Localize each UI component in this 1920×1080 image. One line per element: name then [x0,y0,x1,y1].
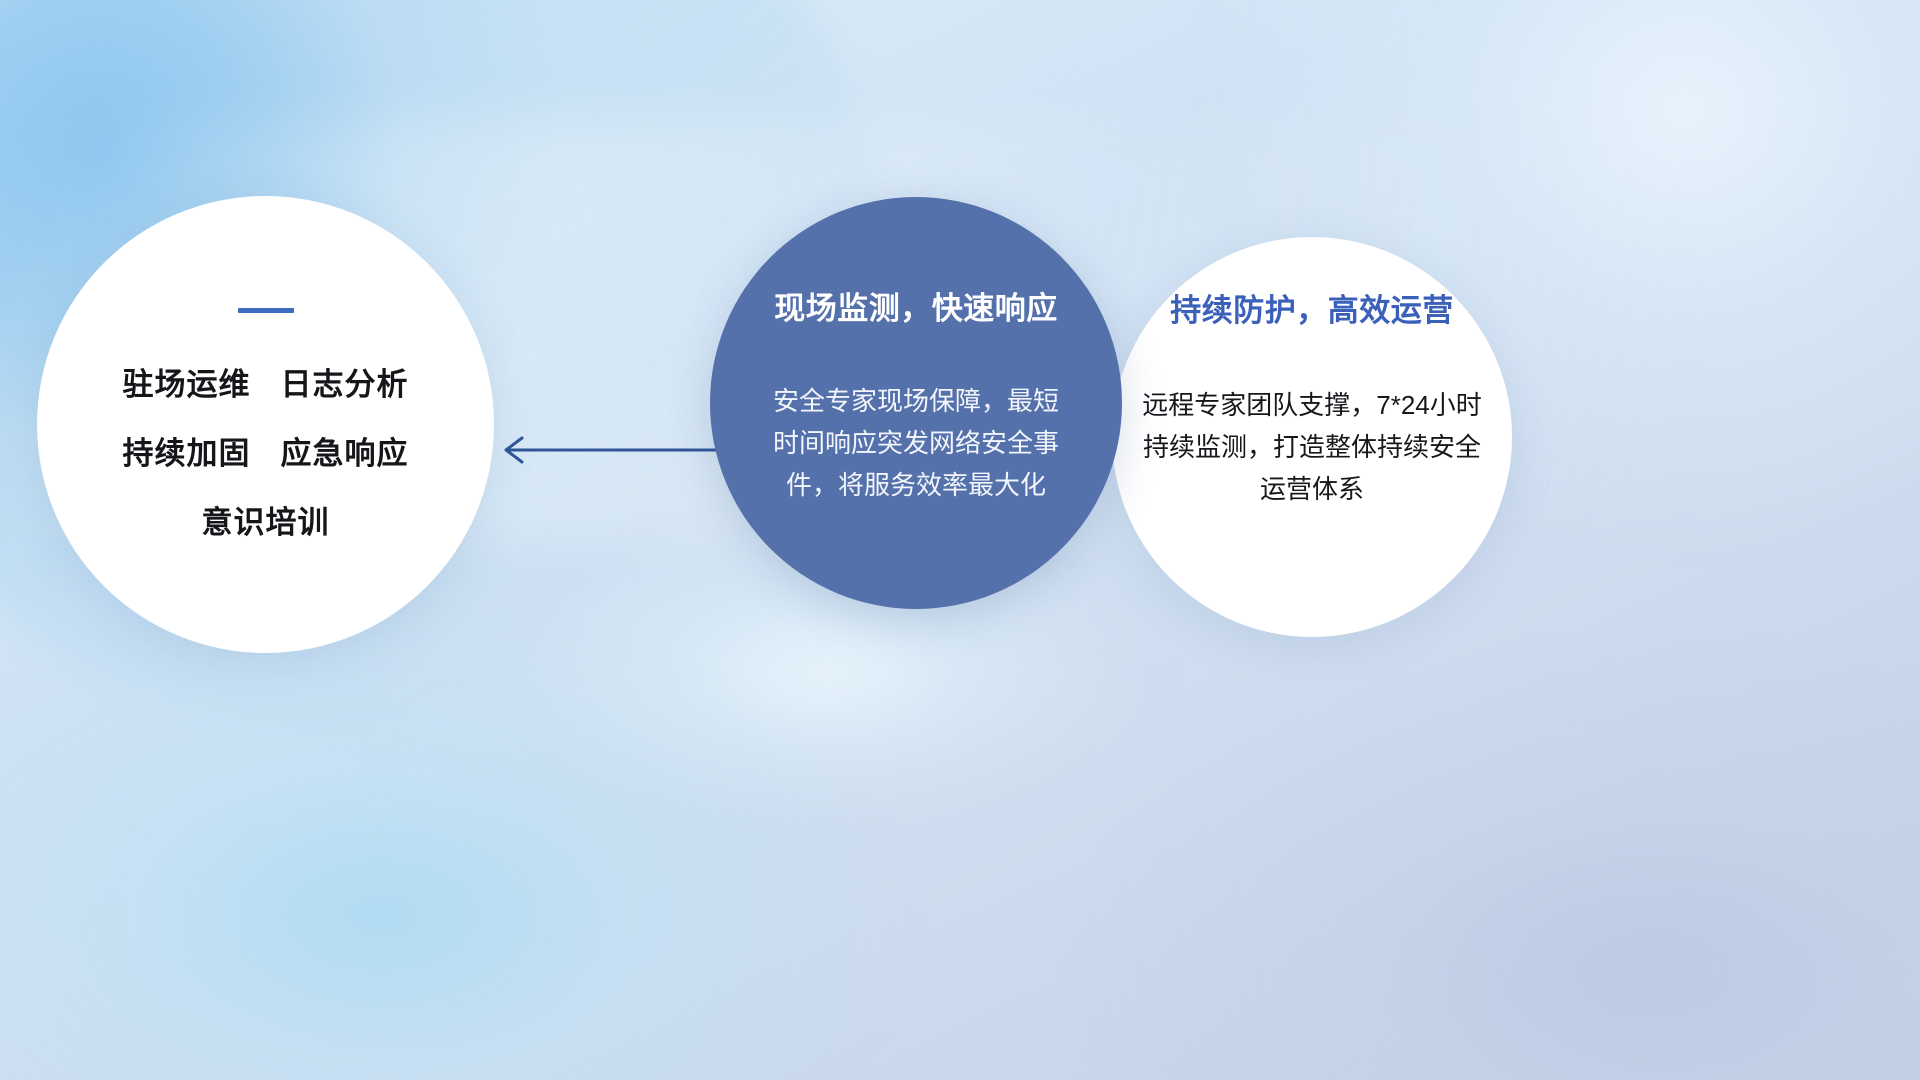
continuous-protection-content: 持续防护，高效运营 远程专家团队支撑，7*24小时持续监测，打造整体持续安全运营… [1112,237,1512,637]
card-title: 持续防护，高效运营 [1170,285,1454,330]
on-site-monitoring-content: 现场监测，快速响应 安全专家现场保障，最短时间响应突发网络安全事件，将服务效率最… [710,197,1122,609]
capability-tag: 日志分析 [281,359,409,404]
title-divider-dash-icon [238,308,294,313]
capability-tag-row: 驻场运维 日志分析 [123,359,409,404]
card-body: 远程专家团队支撑，7*24小时持续监测，打造整体持续安全运营体系 [1136,384,1488,510]
card-title: 现场监测，快速响应 [774,283,1058,328]
card-continuous-protection[interactable]: 持续防护，高效运营 远程专家团队支撑，7*24小时持续监测，打造整体持续安全运营… [1112,237,1512,637]
capability-tag: 持续加固 [123,428,251,473]
card-on-site-monitoring[interactable]: 现场监测，快速响应 安全专家现场保障，最短时间响应突发网络安全事件，将服务效率最… [710,197,1122,609]
slide-canvas: 驻场运维 日志分析 持续加固 应急响应 意识培训 持续防护，高效运营 远程专家团… [0,0,1920,1080]
capabilities-content: 驻场运维 日志分析 持续加固 应急响应 意识培训 [37,196,494,653]
capability-tag-list: 驻场运维 日志分析 持续加固 应急响应 意识培训 [123,359,409,542]
capability-tag: 意识培训 [202,497,330,542]
capability-tag-row: 意识培训 [202,497,330,542]
capability-tag: 应急响应 [281,428,409,473]
card-body: 安全专家现场保障，最短时间响应突发网络安全事件，将服务效率最大化 [766,380,1066,506]
capability-tag-row: 持续加固 应急响应 [123,428,409,473]
capability-tag: 驻场运维 [123,359,251,404]
card-on-site-capabilities[interactable]: 驻场运维 日志分析 持续加固 应急响应 意识培训 [37,196,494,653]
